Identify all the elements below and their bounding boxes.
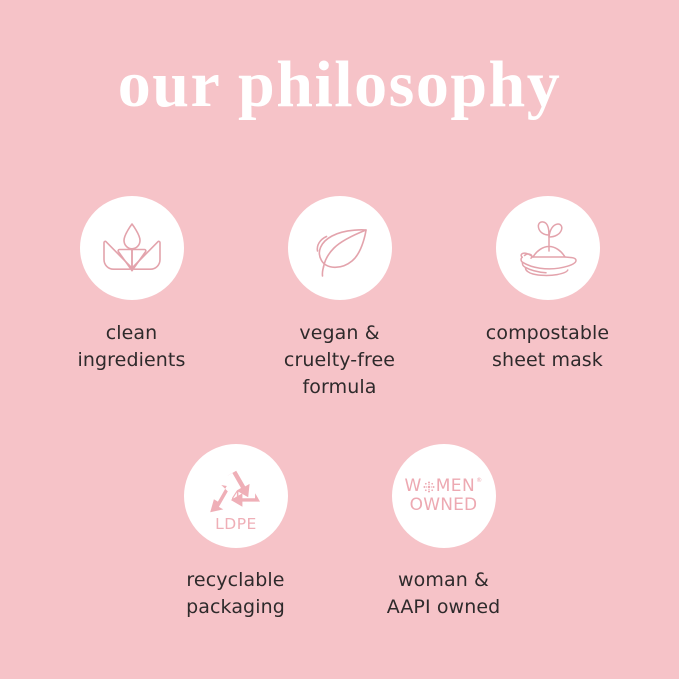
women-owned-line-1: W	[405, 478, 483, 495]
badge-caption: compostable sheet mask	[486, 320, 609, 374]
women-owned-men: MEN	[436, 478, 475, 495]
badge-caption: recyclable packaging	[186, 567, 285, 621]
badge-circle	[496, 196, 600, 300]
badge-caption: clean ingredients	[78, 320, 186, 374]
recycling-ldpe-4-icon: 4 LDPE	[197, 457, 275, 535]
badge-vegan-cruelty-free: vegan & cruelty-free formula	[236, 196, 444, 401]
flower-asterisk-icon	[422, 480, 436, 494]
badge-circle: W	[392, 444, 496, 548]
page-title: our philosophy	[0, 52, 679, 118]
badge-caption: vegan & cruelty-free formula	[284, 320, 395, 401]
badge-recyclable-packaging: 4 LDPE recyclable packaging	[132, 444, 340, 621]
philosophy-infographic: our philosophy	[0, 0, 679, 679]
recycling-resin-label: LDPE	[215, 515, 257, 533]
badge-circle	[80, 196, 184, 300]
badge-row-bottom: 4 LDPE recyclable packaging W	[0, 444, 679, 621]
badge-clean-ingredients: clean ingredients	[28, 196, 236, 401]
badge-circle: 4 LDPE	[184, 444, 288, 548]
lotus-water-drop-icon	[96, 212, 168, 284]
leaf-icon	[304, 212, 376, 284]
women-owned-w: W	[405, 478, 422, 495]
women-owned-badge-icon: W	[405, 478, 483, 514]
badge-circle	[288, 196, 392, 300]
registered-trademark-mark: ®	[476, 478, 482, 484]
women-owned-line-2: OWNED	[410, 497, 478, 514]
badge-row-top: clean ingredients ve	[0, 196, 679, 401]
recycling-resin-number: 4	[231, 488, 241, 506]
hand-holding-sprout-icon	[511, 211, 585, 285]
badge-woman-aapi-owned: W	[340, 444, 548, 621]
badge-compostable-sheet-mask: compostable sheet mask	[444, 196, 652, 401]
badge-caption: woman & AAPI owned	[387, 567, 501, 621]
